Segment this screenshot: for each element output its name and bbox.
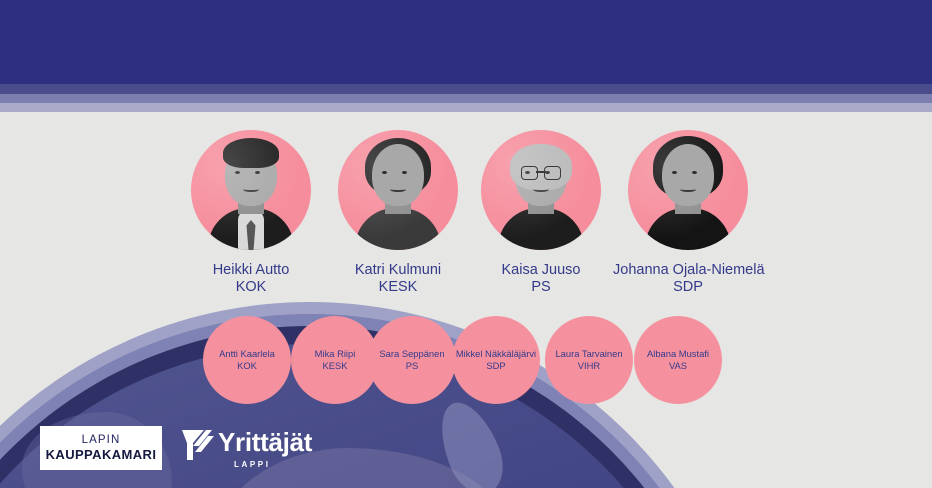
logo-lapin-kauppakamari[interactable]: LAPIN KAUPPAKAMARI <box>40 426 162 470</box>
candidate-name: Laura Tarvainen <box>555 348 622 360</box>
panelist-card[interactable]: Katri Kulmuni KESK <box>323 130 473 296</box>
portrait-katri-kulmuni <box>338 130 458 250</box>
panelist-name: Heikki Autto <box>176 262 326 279</box>
portrait-kaisa-juuso <box>481 130 601 250</box>
header-band <box>0 0 932 84</box>
panelist-name: Katri Kulmuni <box>323 262 473 279</box>
candidate-name: Mika Riipi <box>315 348 356 360</box>
candidate-name: Albana Mustafi <box>647 348 709 360</box>
candidate-party: VIHR <box>578 360 600 372</box>
candidate-party: KESK <box>322 360 347 372</box>
yrittajat-y-mark-icon <box>182 430 214 460</box>
candidate-chip[interactable]: Mika Riipi KESK <box>291 316 379 404</box>
logo-kauppakamari-line1: LAPIN <box>82 434 121 447</box>
candidate-name: Antti Kaarlela <box>219 348 275 360</box>
candidate-name: Sara Seppänen <box>379 348 444 360</box>
candidate-party: PS <box>406 360 419 372</box>
accent-band-2 <box>0 94 932 103</box>
candidate-party: VAS <box>669 360 687 372</box>
logo-kauppakamari-line2: KAUPPAKAMARI <box>46 447 157 462</box>
logo-yrittajat-sub: LAPPI <box>234 460 271 470</box>
candidate-party: SDP <box>486 360 505 372</box>
panelist-card[interactable]: Kaisa Juuso PS <box>466 130 616 296</box>
portrait-heikki-autto <box>191 130 311 250</box>
candidate-chip[interactable]: Laura Tarvainen VIHR <box>545 316 633 404</box>
panelist-card[interactable]: Johanna Ojala-Niemelä SDP <box>613 130 763 296</box>
candidate-party: KOK <box>237 360 257 372</box>
candidate-chip[interactable]: Antti Kaarlela KOK <box>203 316 291 404</box>
slide-canvas: Katse pohjoiseen -vaalipaneeli Heikki Au… <box>0 0 932 488</box>
candidate-chip[interactable]: Mikkel Näkkäläjärvi SDP <box>452 316 540 404</box>
panelist-card[interactable]: Heikki Autto KOK <box>176 130 326 296</box>
logo-yrittajat-word: Yrittäjät <box>218 427 312 457</box>
candidate-row: Antti Kaarlela KOK Mika Riipi KESK Sara … <box>0 316 932 426</box>
logo-bar: LAPIN KAUPPAKAMARI Yrittäjät LAPPI <box>0 424 932 488</box>
accent-band-3 <box>0 103 932 112</box>
candidate-chip[interactable]: Albana Mustafi VAS <box>634 316 722 404</box>
portrait-johanna-ojala-niemela <box>628 130 748 250</box>
accent-band-1 <box>0 84 932 94</box>
panelist-party: SDP <box>613 279 763 296</box>
panelist-party: KESK <box>323 279 473 296</box>
candidate-name: Mikkel Näkkäläjärvi <box>456 348 536 360</box>
panelist-party: KOK <box>176 279 326 296</box>
panelist-name: Johanna Ojala-Niemelä <box>613 262 763 279</box>
candidate-chip[interactable]: Sara Seppänen PS <box>368 316 456 404</box>
panelist-party: PS <box>466 279 616 296</box>
panelist-name: Kaisa Juuso <box>466 262 616 279</box>
